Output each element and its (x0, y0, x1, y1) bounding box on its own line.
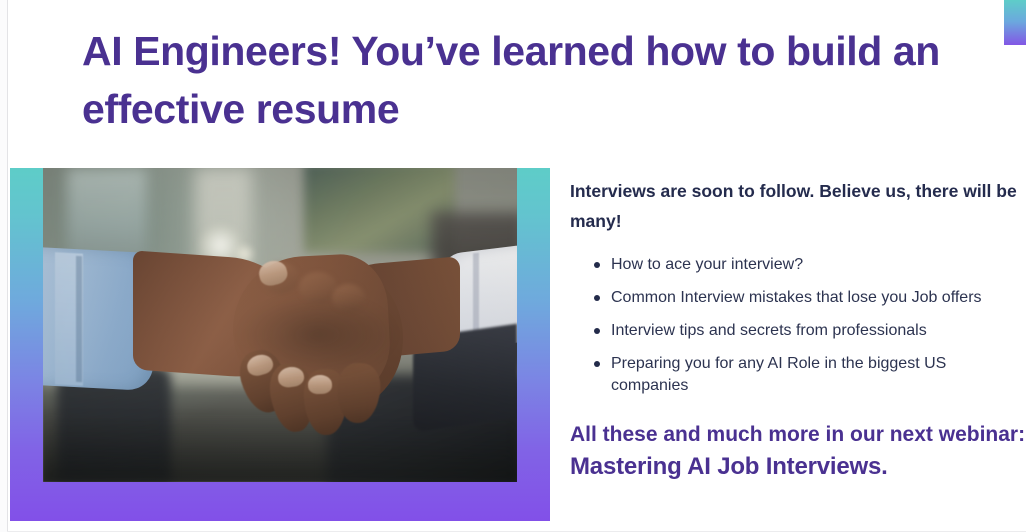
bullet-dot-icon (594, 262, 600, 268)
bullet-dot-icon (594, 295, 600, 301)
list-item-label: Common Interview mistakes that lose you … (611, 289, 982, 306)
closing-lead-text: All these and much more in our next webi… (570, 423, 1025, 446)
lede-paragraph: Interviews are soon to follow. Believe u… (570, 176, 1026, 236)
photo-white-cuff-seam (473, 252, 479, 341)
page-title: AI Engineers! You’ve learned how to buil… (82, 22, 962, 138)
list-item: How to ace your interview? (570, 254, 1026, 276)
webinar-title: Mastering AI Job Interviews. (570, 453, 888, 480)
content-column: Interviews are soon to follow. Believe u… (570, 176, 1026, 484)
page-left-rule (7, 0, 8, 532)
slide-canvas: AI Engineers! You’ve learned how to buil… (0, 0, 1026, 532)
list-item: Common Interview mistakes that lose you … (570, 287, 1026, 309)
list-item: Interview tips and secrets from professi… (570, 320, 1026, 342)
photo-blue-cuff-seam (76, 256, 82, 382)
photo-grip-shadow (237, 294, 398, 376)
bullet-dot-icon (594, 361, 600, 367)
photo-fingernail (308, 375, 332, 395)
gradient-accent-tab (1004, 0, 1026, 45)
photo-background-window (67, 168, 148, 262)
image-gradient-frame (10, 168, 550, 521)
list-item-label: Preparing you for any AI Role in the big… (611, 355, 946, 394)
list-item: Preparing you for any AI Role in the big… (570, 353, 1026, 397)
benefits-list: How to ace your interview? Common Interv… (570, 254, 1026, 397)
list-item-label: Interview tips and secrets from professi… (611, 322, 927, 339)
handshake-photo (43, 168, 517, 482)
page-left-gutter (0, 0, 7, 532)
bullet-dot-icon (594, 328, 600, 334)
closing-callout: All these and much more in our next webi… (570, 419, 1026, 484)
list-item-label: How to ace your interview? (611, 256, 803, 273)
